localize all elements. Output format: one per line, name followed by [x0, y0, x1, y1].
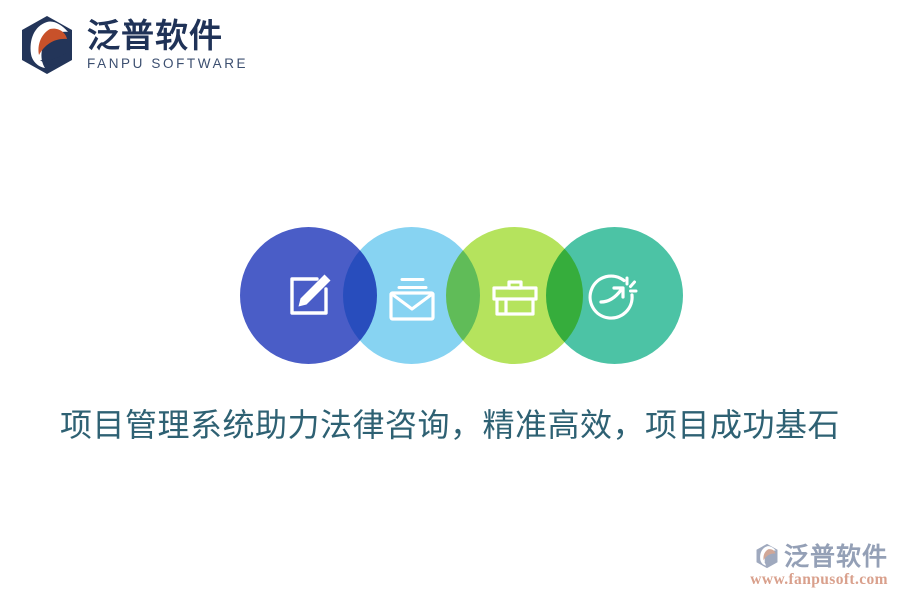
watermark-brand-name: 泛普软件	[784, 544, 888, 569]
watermark-brand: 泛普软件	[754, 543, 888, 569]
brand-wordmark: 泛普软件 FANPU SOFTWARE	[87, 17, 248, 72]
brand-name-cn: 泛普软件	[87, 19, 248, 54]
edit-compose-icon	[280, 267, 338, 325]
feature-circle-group	[240, 227, 683, 364]
brand-header[interactable]: 泛普软件 FANPU SOFTWARE	[16, 14, 248, 76]
brand-name-en: FANPU SOFTWARE	[87, 56, 248, 72]
page-headline: 项目管理系统助力法律咨询，精准高效，项目成功基石	[0, 404, 900, 447]
watermark-url: www.fanpusoft.com	[750, 571, 888, 590]
growth-arrow-circle-icon	[586, 267, 644, 325]
envelope-mail-icon	[383, 267, 441, 325]
briefcase-toolbox-icon	[486, 267, 544, 325]
watermark: 泛普软件 www.fanpusoft.com	[750, 543, 888, 590]
fanpu-hexagon-logo-icon	[754, 543, 780, 569]
fanpu-hexagon-logo-icon	[16, 14, 78, 76]
feature-circle-growth[interactable]	[546, 227, 683, 364]
